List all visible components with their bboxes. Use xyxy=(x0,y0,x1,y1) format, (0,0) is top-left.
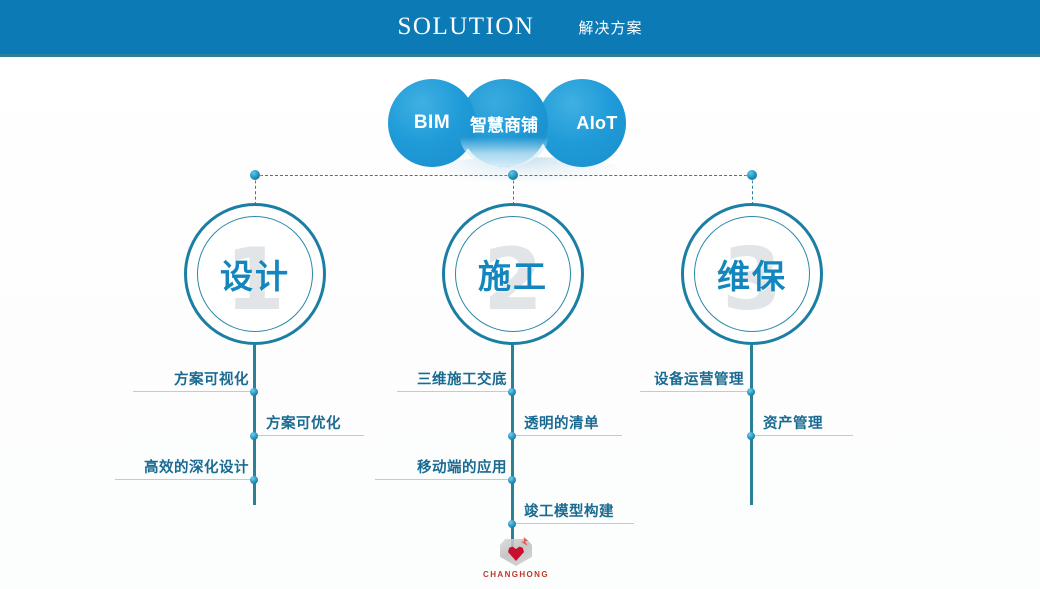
page-title-en: SOLUTION xyxy=(397,13,534,41)
branch-label: 方案可优化 xyxy=(266,412,341,433)
branch-item: 透明的清单 xyxy=(514,402,622,436)
branch-item: 移动端的应用 xyxy=(375,446,513,480)
branch-label: 移动端的应用 xyxy=(417,456,507,477)
branch-item: 高效的深化设计 xyxy=(115,446,255,480)
branch-underline xyxy=(514,523,634,524)
pillar-circle-maintenance[interactable]: 3 维保 xyxy=(681,203,823,345)
branch-underline xyxy=(256,435,364,436)
branch-underline xyxy=(133,391,255,392)
changhong-logo-text: CHANGHONG xyxy=(478,570,554,579)
pillar-circle-design[interactable]: 1 设计 xyxy=(184,203,326,345)
branch-label: 资产管理 xyxy=(763,412,823,433)
changhong-logo-icon xyxy=(496,538,536,568)
branch-node xyxy=(250,432,258,440)
branch-underline xyxy=(514,435,622,436)
branch-item: 资产管理 xyxy=(753,402,853,436)
branch-label: 方案可视化 xyxy=(174,368,249,389)
bubble-aiot[interactable] xyxy=(538,79,626,167)
branch-underline xyxy=(375,479,513,480)
branch-node xyxy=(250,388,258,396)
dashed-connector-horizontal xyxy=(255,175,752,176)
branch-node xyxy=(250,476,258,484)
page-title-cn: 解决方案 xyxy=(578,17,642,38)
changhong-logo: CHANGHONG xyxy=(478,538,554,586)
branch-label: 透明的清单 xyxy=(524,412,599,433)
connector-node-2 xyxy=(508,170,518,180)
pillar-circle-construction[interactable]: 2 施工 xyxy=(442,203,584,345)
branch-label: 竣工模型构建 xyxy=(524,500,614,521)
branch-underline xyxy=(397,391,513,392)
header-title-group: SOLUTION 解决方案 xyxy=(0,0,1040,54)
branch-label: 高效的深化设计 xyxy=(144,456,249,477)
branch-label: 三维施工交底 xyxy=(417,368,507,389)
branch-underline xyxy=(115,479,255,480)
branch-node xyxy=(508,432,516,440)
connector-node-3 xyxy=(747,170,757,180)
branch-node xyxy=(747,388,755,396)
branch-node xyxy=(747,432,755,440)
branch-underline xyxy=(753,435,853,436)
branch-item: 竣工模型构建 xyxy=(514,490,634,524)
branch-item: 设备运营管理 xyxy=(640,358,750,392)
concept-bubble-group: BIM 智慧商铺 AIoT xyxy=(388,79,656,167)
branch-node xyxy=(508,388,516,396)
branch-item: 三维施工交底 xyxy=(397,358,513,392)
pillar-label-construction: 施工 xyxy=(442,203,584,345)
connector-node-1 xyxy=(250,170,260,180)
branch-underline xyxy=(640,391,750,392)
page-header: SOLUTION 解决方案 xyxy=(0,0,1040,54)
pillar-label-design: 设计 xyxy=(184,203,326,345)
branch-item: 方案可视化 xyxy=(133,358,255,392)
bubble-bim[interactable] xyxy=(388,79,476,167)
diagram-canvas: BIM 智慧商铺 AIoT 1 设计 2 施工 3 维保 方案可视化 xyxy=(0,57,1040,589)
pillar-label-maintenance: 维保 xyxy=(681,203,823,345)
branch-item: 方案可优化 xyxy=(256,402,364,436)
branch-node xyxy=(508,476,516,484)
branch-label: 设备运营管理 xyxy=(654,368,744,389)
branch-node xyxy=(508,520,516,528)
